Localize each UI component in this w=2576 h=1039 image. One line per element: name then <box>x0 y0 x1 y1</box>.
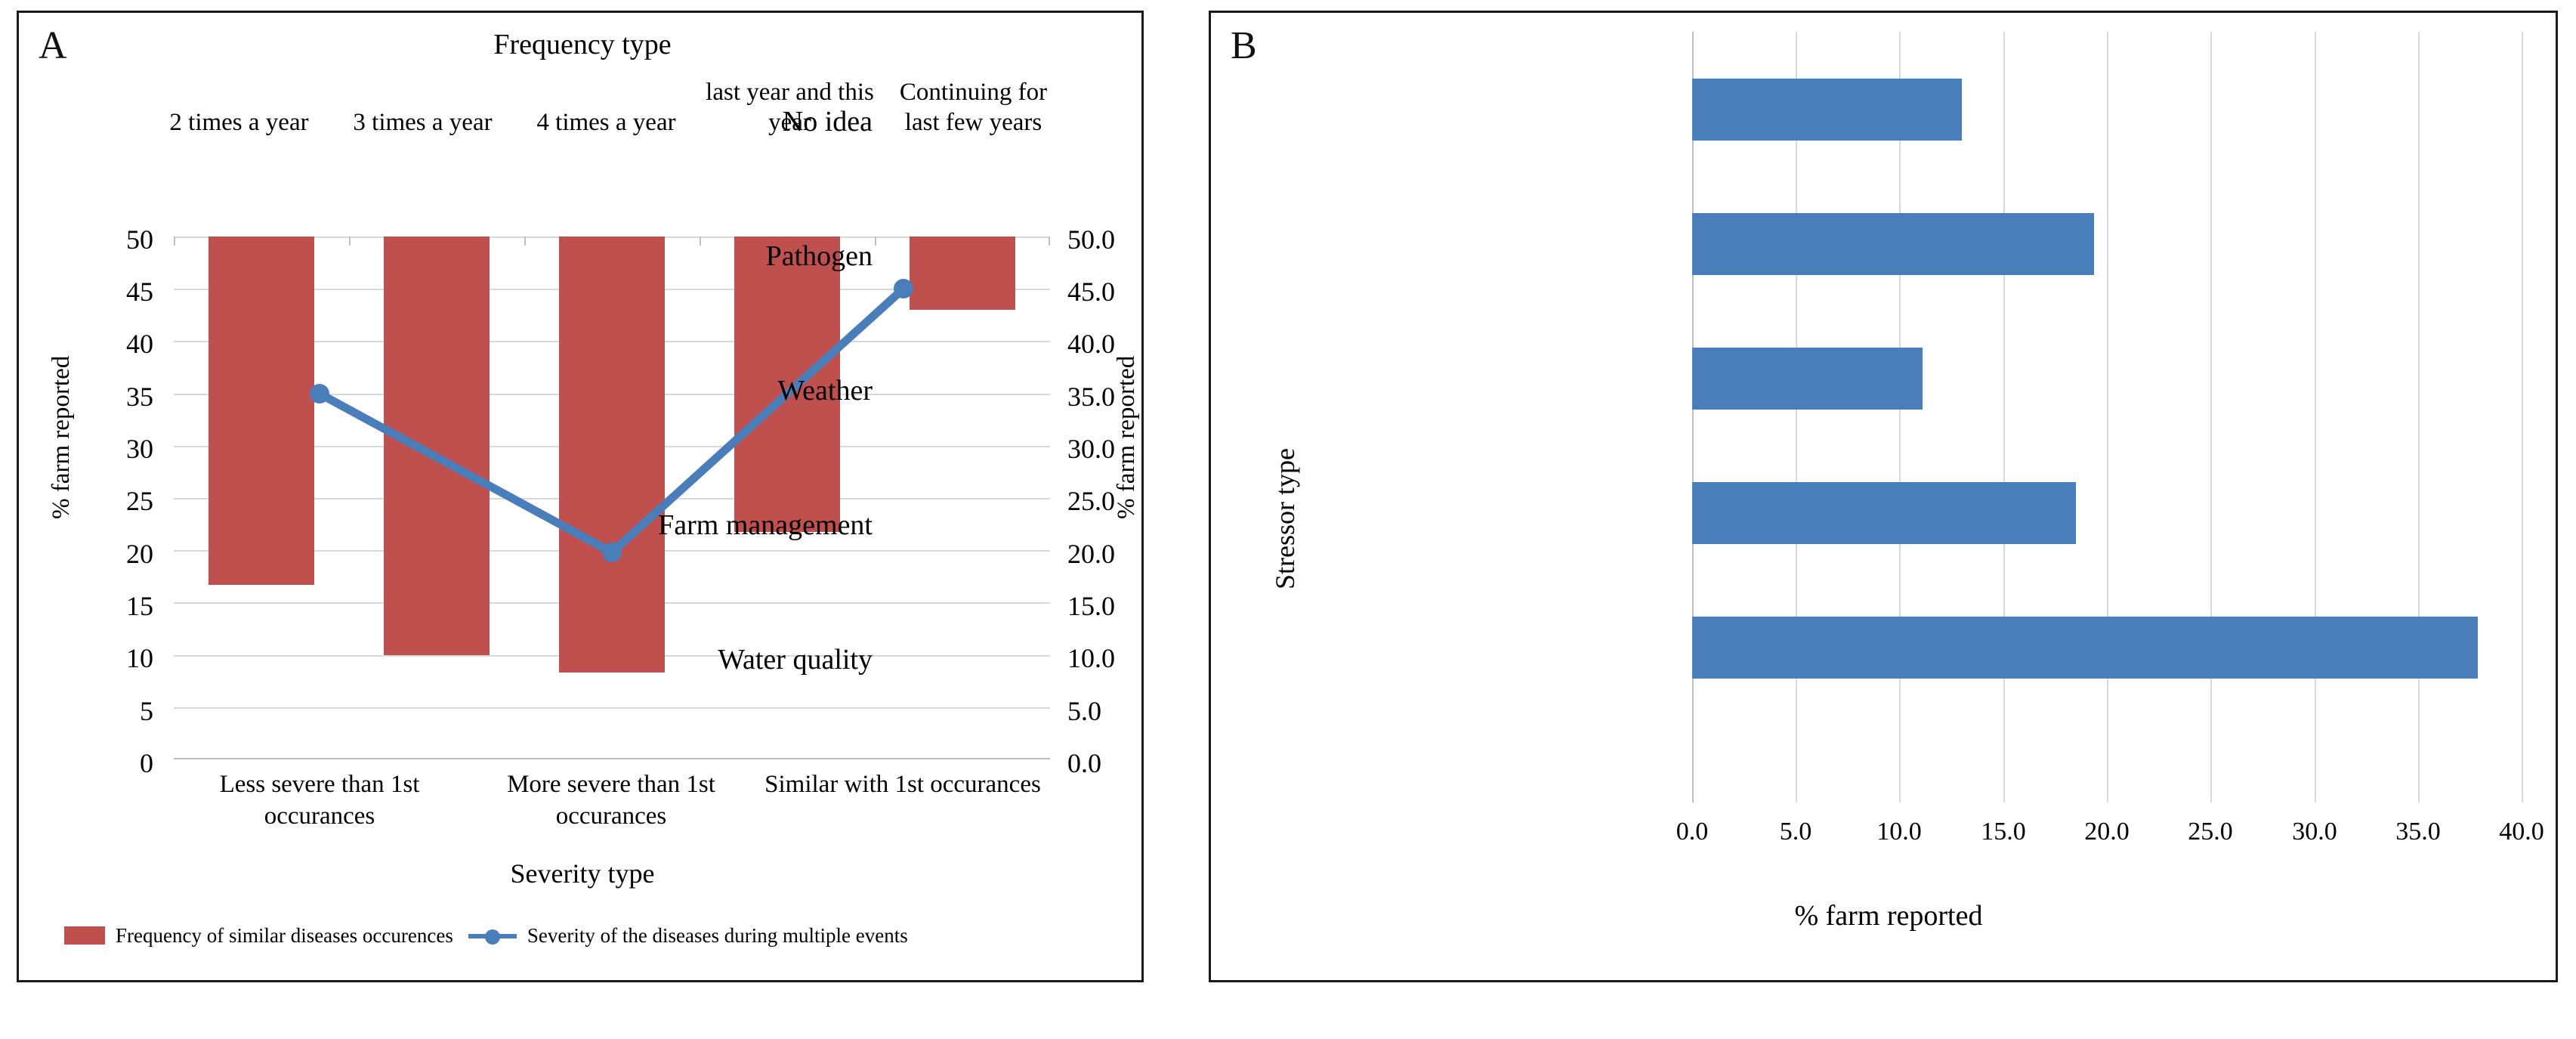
y-tick-left: 50 <box>63 226 153 253</box>
panel-b-y-axis-title: Stressor type <box>1269 448 1301 589</box>
category-label: Less severe than 1st occurances <box>174 768 465 832</box>
y-tick-right: 0.0 <box>1067 750 1196 777</box>
x-tick-label: 30.0 <box>2269 818 2360 846</box>
x-tick-label: 0.0 <box>1647 818 1737 846</box>
y-tick-right: 25.0 <box>1067 487 1196 515</box>
y-tick-right: 45.0 <box>1067 278 1196 305</box>
y-tick-right: 10.0 <box>1067 645 1196 672</box>
y-tick-left: 35 <box>63 383 153 410</box>
y-tick-left: 10 <box>63 645 153 672</box>
x-tick-label: 20.0 <box>2062 818 2152 846</box>
y-tick-left: 20 <box>63 540 153 567</box>
gridline <box>1796 32 1797 802</box>
panel-a-plot-area <box>174 237 1050 759</box>
y-category-label: No idea <box>783 107 873 136</box>
legend-label: Frequency of similar diseases occurences <box>116 924 453 948</box>
legend-item-frequency: Frequency of similar diseases occurences <box>64 924 453 948</box>
severity-point <box>310 384 329 404</box>
x-tick-label: 40.0 <box>2476 818 2567 846</box>
gridline <box>1692 32 1694 802</box>
severity-point <box>894 279 913 298</box>
gridline <box>2210 32 2212 802</box>
gridline <box>1899 32 1901 802</box>
severity-line-series <box>174 237 1050 759</box>
y-tick-left: 40 <box>63 330 153 357</box>
gridline <box>2315 32 2316 802</box>
x-tick-label: 5.0 <box>1750 818 1841 846</box>
category-label: Similar with 1st occurances <box>757 768 1049 800</box>
panel-a-category-labels: Less severe than 1st occurances More sev… <box>174 768 1050 852</box>
y-tick-right: 5.0 <box>1067 697 1196 725</box>
severity-point <box>602 543 622 562</box>
top-category-label: 3 times a year <box>331 107 514 138</box>
y-tick-left: 45 <box>63 278 153 305</box>
x-tick-label: 35.0 <box>2373 818 2463 846</box>
bar-stressor <box>1692 79 1962 141</box>
gridline <box>2522 32 2523 802</box>
panel-b-plot-area <box>1692 32 2531 802</box>
top-category-label: 4 times a year <box>514 107 698 138</box>
y-tick-right: 50.0 <box>1067 226 1196 253</box>
y-tick-right: 40.0 <box>1067 330 1196 357</box>
legend-swatch-icon <box>64 926 105 945</box>
y-category-label: Weather <box>777 376 873 405</box>
x-tick-label: 15.0 <box>1958 818 2049 846</box>
gridline <box>2003 32 2005 802</box>
panel-a-legend: Frequency of similar diseases occurences… <box>64 918 1122 953</box>
y-tick-left: 25 <box>63 487 153 515</box>
top-category-label: Continuing for last few years <box>882 77 1065 138</box>
legend-label: Severity of the diseases during multiple… <box>527 924 908 948</box>
panel-a-x-axis-title: Severity type <box>19 858 1146 889</box>
y-tick-left: 0 <box>63 750 153 777</box>
legend-line-marker-icon <box>468 926 517 945</box>
category-label: More severe than 1st occurances <box>465 768 757 832</box>
x-tick-label: 10.0 <box>1854 818 1944 846</box>
y-tick-left: 30 <box>63 435 153 462</box>
panel-b-x-axis-title: % farm reported <box>1284 899 2493 932</box>
figure-root: A Frequency type 2 times a year 3 times … <box>0 0 2576 1039</box>
legend-item-severity: Severity of the diseases during multiple… <box>468 924 908 948</box>
bar-stressor <box>1692 213 2094 275</box>
panel-b-letter: B <box>1231 26 1257 66</box>
panel-a-top-category-labels: 2 times a year 3 times a year 4 times a … <box>147 54 1065 138</box>
x-tick-label: 25.0 <box>2165 818 2256 846</box>
y-category-label: Pathogen <box>766 242 873 271</box>
y-tick-right: 20.0 <box>1067 540 1196 567</box>
bar-stressor <box>1692 617 2478 679</box>
top-category-label: 2 times a year <box>147 107 331 138</box>
y-tick-left: 5 <box>63 697 153 725</box>
y-tick-left: 15 <box>63 592 153 620</box>
panel-a: A Frequency type 2 times a year 3 times … <box>17 11 1144 982</box>
bar-stressor <box>1692 348 1923 410</box>
y-tick-right: 15.0 <box>1067 592 1196 620</box>
y-category-label: Farm management <box>658 511 873 540</box>
y-tick-right: 30.0 <box>1067 435 1196 462</box>
y-category-label: Water quality <box>718 645 873 674</box>
bar-stressor <box>1692 482 2076 544</box>
gridline <box>2418 32 2420 802</box>
gridline <box>2107 32 2108 802</box>
y-tick-right: 35.0 <box>1067 383 1196 410</box>
